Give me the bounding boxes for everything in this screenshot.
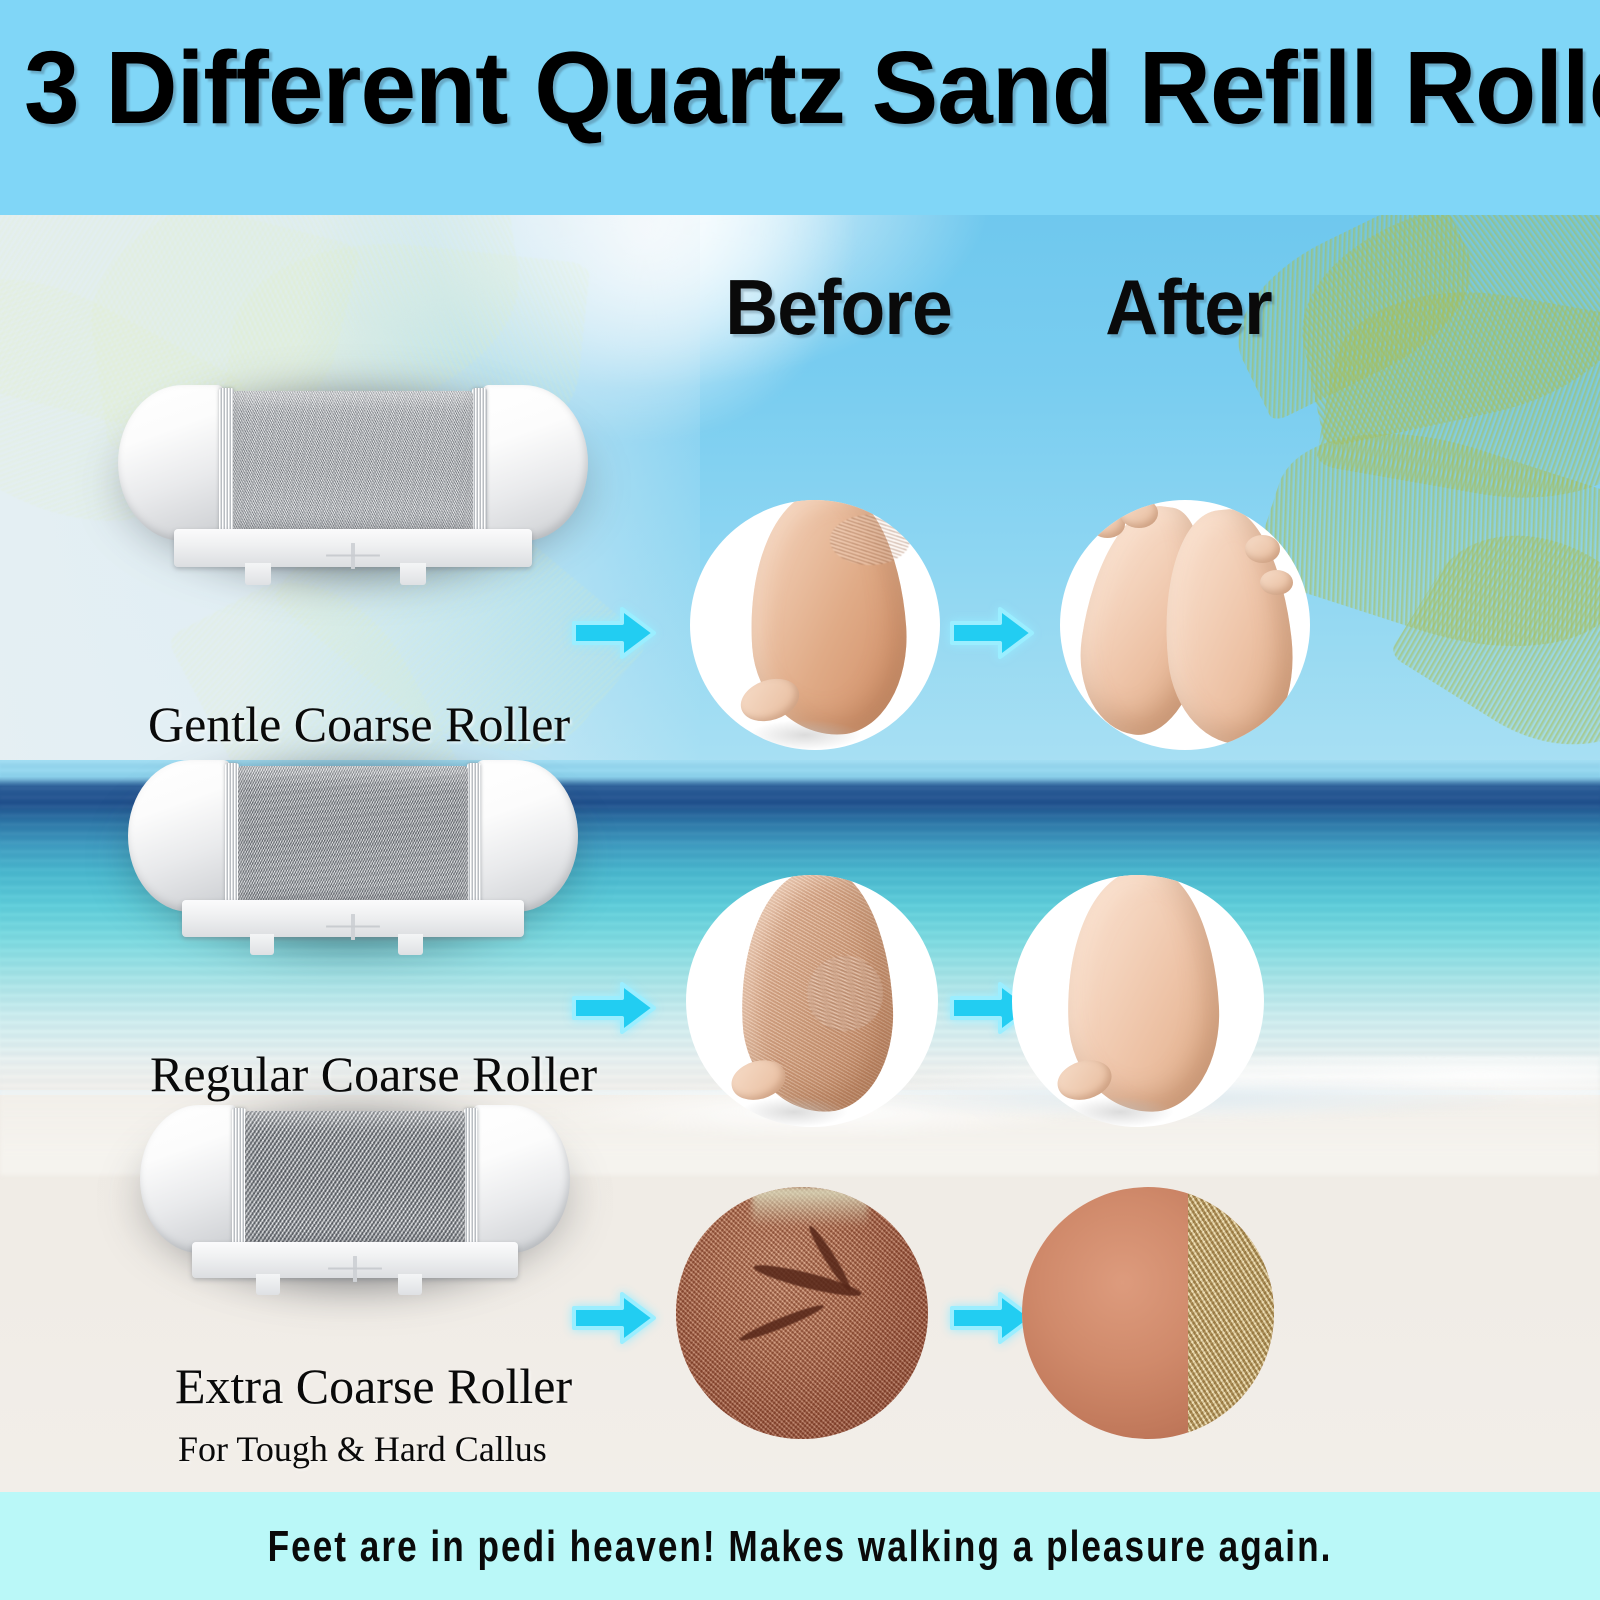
arrow-right-icon — [572, 980, 656, 1036]
roller-leg — [245, 563, 271, 585]
callus-closeup — [676, 1187, 928, 1439]
roller-leg — [250, 934, 275, 955]
roller-collar-right — [472, 388, 487, 538]
roller-collar-right — [464, 1108, 478, 1250]
after-photo-gentle — [1060, 500, 1310, 750]
heel-texture — [830, 515, 910, 565]
foot-illustration — [1012, 875, 1264, 1127]
callus-edge-tint — [752, 1187, 868, 1227]
roller-clip-icon — [328, 1256, 382, 1282]
roller-body — [128, 760, 578, 912]
roller-end-cap-right — [475, 760, 579, 912]
foot-toe — [1245, 535, 1280, 563]
arrow-right-icon — [572, 1290, 656, 1346]
roller-end-cap-left — [128, 760, 232, 912]
feet-soles-illustration — [1060, 500, 1310, 750]
before-photo-extra — [676, 1187, 928, 1439]
roller-abrasive-drum — [245, 1111, 464, 1247]
callus-crack — [738, 1301, 826, 1344]
arrow-right-icon — [572, 605, 656, 661]
roller-abrasive-drum — [233, 391, 473, 535]
arrow-right-icon — [950, 605, 1034, 661]
foot-illustration — [686, 875, 938, 1127]
before-heading: Before — [725, 262, 952, 353]
cracked-heel-texture — [807, 956, 883, 1032]
before-photo-regular — [686, 875, 938, 1127]
roller-collar-left — [232, 1108, 246, 1250]
before-photo-gentle — [690, 500, 940, 750]
roller-end-cap-right — [471, 1105, 570, 1253]
sand-grain-texture — [1188, 1187, 1274, 1439]
roller-body — [118, 385, 588, 541]
after-photo-regular — [1012, 875, 1264, 1127]
roller-collar-left — [225, 763, 239, 909]
testimonial-text: Feet are in pedi heaven! Makes walking a… — [160, 1522, 1440, 1572]
smooth-skin-closeup — [1022, 1187, 1274, 1439]
roller-leg — [398, 1274, 422, 1295]
after-photo-extra — [1022, 1187, 1274, 1439]
page-title: 3 Different Quartz Sand Refill Rollers — [24, 36, 1576, 139]
foot-toe — [1260, 570, 1293, 595]
roller-base-tray — [192, 1242, 519, 1278]
foot-illustration — [690, 500, 940, 750]
roller-collar-left — [219, 388, 234, 538]
roller-image-extra — [140, 1105, 570, 1295]
roller-leg — [400, 563, 426, 585]
footer-banner: Feet are in pedi heaven! Makes walking a… — [0, 1492, 1600, 1600]
roller-image-gentle — [118, 385, 588, 585]
roller-end-cap-left — [140, 1105, 239, 1253]
foot-toe — [1120, 500, 1158, 528]
roller-base-tray — [174, 529, 531, 567]
roller-leg — [256, 1274, 280, 1295]
header-banner: 3 Different Quartz Sand Refill Rollers — [0, 0, 1600, 215]
roller-collar-right — [467, 763, 481, 909]
roller-body — [140, 1105, 570, 1253]
product-row-extra: Extra Coarse Roller For Tough & Hard Cal… — [0, 1095, 1600, 1475]
roller-image-regular — [128, 760, 578, 955]
roller-end-cap-left — [118, 385, 226, 541]
roller-end-cap-right — [480, 385, 588, 541]
beach-scene-background: Before After Gentle Coarse Roller — [0, 215, 1600, 1492]
roller-abrasive-drum — [238, 766, 468, 906]
after-heading: After — [1105, 262, 1271, 353]
roller-base-tray — [182, 900, 524, 937]
roller-clip-icon — [326, 914, 380, 940]
roller-use-extra: For Tough & Hard Callus — [178, 1428, 547, 1470]
roller-name-extra: Extra Coarse Roller — [175, 1357, 572, 1415]
roller-clip-icon — [326, 543, 380, 569]
roller-leg — [398, 934, 423, 955]
product-infographic: 3 Different Quartz Sand Refill Rollers B… — [0, 0, 1600, 1600]
